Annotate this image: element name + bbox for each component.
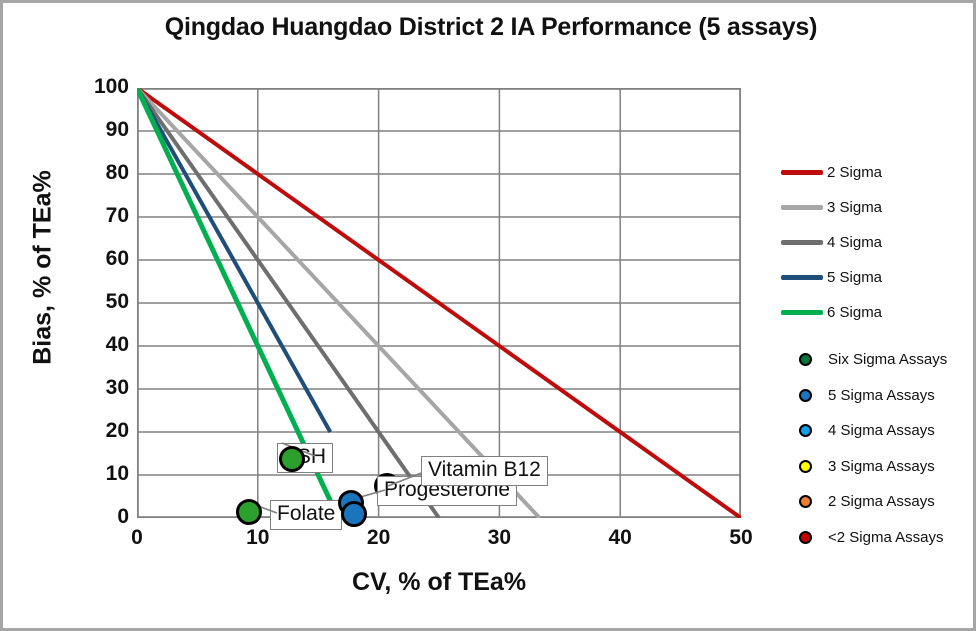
legend-line-swatch-icon [781, 170, 823, 175]
y-tick-100: 100 [73, 75, 129, 99]
legend-marker-dot-icon [799, 531, 812, 544]
legend-line-label: 3 Sigma [827, 199, 882, 216]
legend-line-label: 2 Sigma [827, 164, 882, 181]
chart-legend: 2 Sigma3 Sigma4 Sigma5 Sigma6 Sigma Six … [781, 155, 976, 555]
callout-vitamin-b12[interactable]: Vitamin B12 [421, 456, 548, 486]
legend-marker-label: 2 Sigma Assays [828, 493, 935, 510]
legend-line-swatch-icon [781, 275, 823, 280]
y-tick-20: 20 [73, 419, 129, 443]
plot-area: FSH Folate Progesterone Vitamin B12 [137, 88, 741, 518]
legend-line-6-sigma[interactable]: 6 Sigma [781, 295, 976, 330]
chart-frame: Qingdao Huangdao District 2 IA Performan… [0, 0, 976, 631]
y-tick-30: 30 [73, 376, 129, 400]
chart-title: Qingdao Huangdao District 2 IA Performan… [3, 13, 976, 42]
legend-line-swatch-icon [781, 205, 823, 210]
x-tick-30: 30 [469, 526, 529, 550]
x-tick-20: 20 [349, 526, 409, 550]
legend-line-3-sigma[interactable]: 3 Sigma [781, 190, 976, 225]
legend-line-4-sigma[interactable]: 4 Sigma [781, 225, 976, 260]
legend-marker-entries: Six Sigma Assays5 Sigma Assays4 Sigma As… [781, 342, 976, 555]
legend-line-entries: 2 Sigma3 Sigma4 Sigma5 Sigma6 Sigma [781, 155, 976, 330]
callout-folate[interactable]: Folate [270, 500, 342, 530]
legend-marker-dot-icon [799, 389, 812, 402]
x-axis-tick-labels: 0 10 20 30 40 50 [137, 526, 741, 556]
legend-line-label: 6 Sigma [827, 304, 882, 321]
y-axis-title: Bias, % of TEa% [29, 118, 58, 418]
legend-marker-label: <2 Sigma Assays [828, 529, 943, 546]
legend-marker-lt-2-sigma-assays[interactable]: <2 Sigma Assays [781, 520, 976, 556]
y-tick-90: 90 [73, 118, 129, 142]
y-tick-40: 40 [73, 333, 129, 357]
x-tick-40: 40 [590, 526, 650, 550]
legend-line-label: 4 Sigma [827, 234, 882, 251]
plot-svg [137, 88, 741, 518]
legend-marker-4-sigma-assays[interactable]: 4 Sigma Assays [781, 413, 976, 449]
legend-line-swatch-icon [781, 310, 823, 315]
legend-marker-5-sigma-assays[interactable]: 5 Sigma Assays [781, 378, 976, 414]
legend-marker-dot-icon [799, 424, 812, 437]
legend-marker-3-sigma-assays[interactable]: 3 Sigma Assays [781, 449, 976, 485]
legend-marker-label: 4 Sigma Assays [828, 422, 935, 439]
data-point-folate[interactable] [236, 499, 262, 525]
legend-line-2-sigma[interactable]: 2 Sigma [781, 155, 976, 190]
x-tick-0: 0 [107, 526, 167, 550]
legend-marker-dot-icon [799, 353, 812, 366]
data-point-4[interactable] [341, 501, 367, 527]
legend-marker-2-sigma-assays[interactable]: 2 Sigma Assays [781, 484, 976, 520]
y-tick-10: 10 [73, 462, 129, 486]
x-tick-50: 50 [711, 526, 771, 550]
legend-line-5-sigma[interactable]: 5 Sigma [781, 260, 976, 295]
x-axis-title: CV, % of TEa% [137, 568, 741, 597]
legend-line-swatch-icon [781, 240, 823, 245]
legend-marker-dot-icon [799, 460, 812, 473]
legend-marker-label: 3 Sigma Assays [828, 458, 935, 475]
data-point-fsh[interactable] [279, 446, 305, 472]
legend-line-label: 5 Sigma [827, 269, 882, 286]
legend-marker-label: Six Sigma Assays [828, 351, 947, 368]
legend-marker-dot-icon [799, 495, 812, 508]
y-axis-tick-labels: 0 10 20 30 40 50 60 70 80 90 100 [69, 88, 129, 518]
legend-marker-label: 5 Sigma Assays [828, 387, 935, 404]
y-tick-60: 60 [73, 247, 129, 271]
legend-marker-six-sigma-assays[interactable]: Six Sigma Assays [781, 342, 976, 378]
y-tick-70: 70 [73, 204, 129, 228]
y-tick-80: 80 [73, 161, 129, 185]
y-tick-50: 50 [73, 290, 129, 314]
